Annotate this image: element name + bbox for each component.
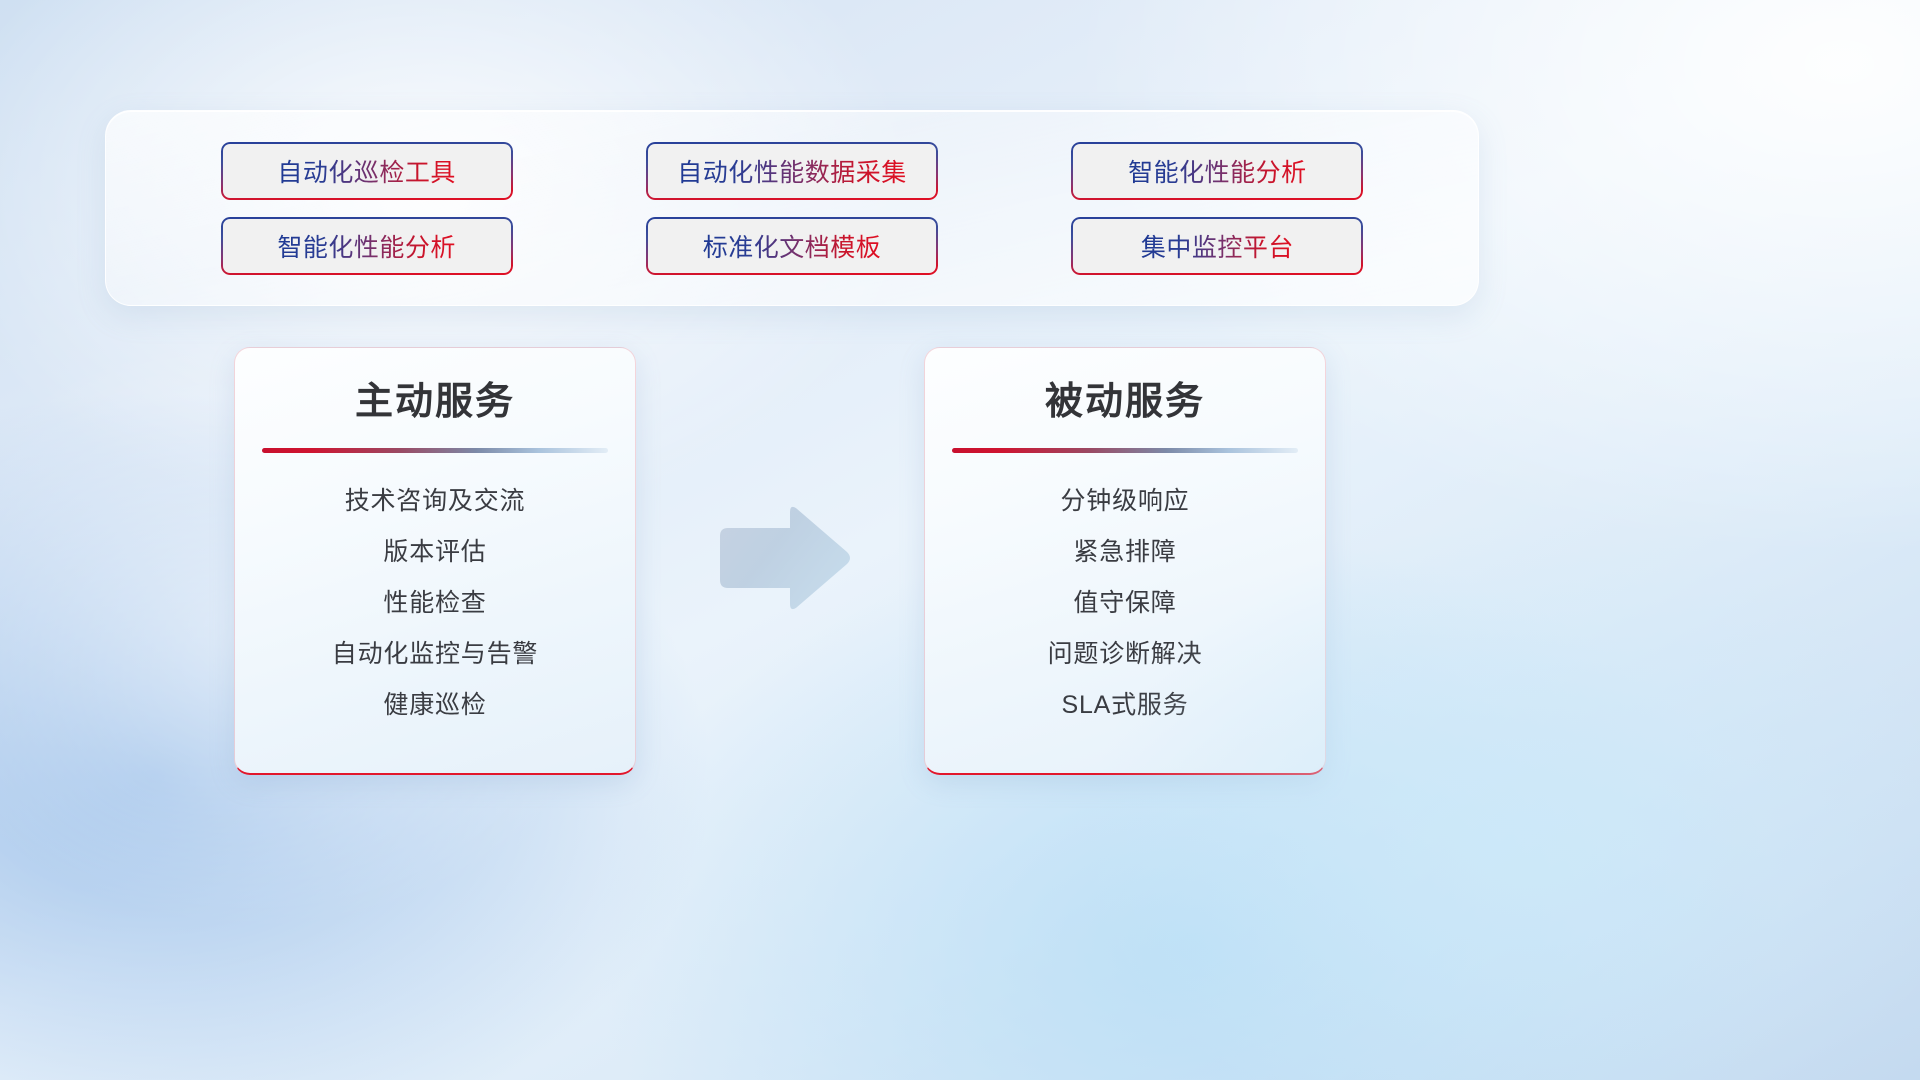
tool-pill-performance-data-collection[interactable]: 自动化性能数据采集 xyxy=(646,142,938,200)
tool-pill-label: 智能化性能分析 xyxy=(277,228,456,264)
list-item: SLA式服务 xyxy=(1061,693,1188,718)
card-title: 主动服务 xyxy=(355,382,515,424)
list-item: 自动化监控与告警 xyxy=(332,642,538,667)
tool-pill-intelligent-performance-analysis[interactable]: 智能化性能分析 xyxy=(1071,142,1363,200)
card-title: 被动服务 xyxy=(1045,382,1205,424)
tool-pill-label: 智能化性能分析 xyxy=(1128,153,1307,189)
service-card-reactive: 被动服务 分钟级响应 紧急排障 值守保障 问题诊断解决 SLA式服务 xyxy=(924,347,1326,775)
tool-pill-intelligent-performance-analysis-2[interactable]: 智能化性能分析 xyxy=(221,217,513,275)
list-item: 紧急排障 xyxy=(1073,540,1176,565)
arrow-right-icon xyxy=(714,500,854,616)
tool-pill-label: 集中监控平台 xyxy=(1141,228,1294,264)
card-item-list: 技术咨询及交流 版本评估 性能检查 自动化监控与告警 健康巡检 xyxy=(257,489,613,718)
card-divider xyxy=(262,448,608,453)
slide-canvas: 自动化巡检工具 自动化性能数据采集 智能化性能分析 智能化性能分析 标准化文档模… xyxy=(0,0,1920,1080)
service-card-proactive: 主动服务 技术咨询及交流 版本评估 性能检查 自动化监控与告警 健康巡检 xyxy=(234,347,636,775)
tool-pill-automation-inspection[interactable]: 自动化巡检工具 xyxy=(221,142,513,200)
card-divider xyxy=(952,448,1298,453)
list-item: 技术咨询及交流 xyxy=(345,489,526,514)
tools-panel: 自动化巡检工具 自动化性能数据采集 智能化性能分析 智能化性能分析 标准化文档模… xyxy=(105,110,1479,306)
list-item: 版本评估 xyxy=(383,540,486,565)
list-item: 健康巡检 xyxy=(383,693,486,718)
tool-pill-centralized-monitoring-platform[interactable]: 集中监控平台 xyxy=(1071,217,1363,275)
card-item-list: 分钟级响应 紧急排障 值守保障 问题诊断解决 SLA式服务 xyxy=(947,489,1303,718)
tool-pill-standard-doc-template[interactable]: 标准化文档模板 xyxy=(646,217,938,275)
tool-pill-label: 自动化巡检工具 xyxy=(277,153,456,189)
list-item: 问题诊断解决 xyxy=(1048,642,1203,667)
list-item: 值守保障 xyxy=(1073,591,1176,616)
tool-pill-label: 标准化文档模板 xyxy=(703,228,882,264)
tool-pill-label: 自动化性能数据采集 xyxy=(677,153,907,189)
list-item: 性能检查 xyxy=(383,591,486,616)
list-item: 分钟级响应 xyxy=(1060,489,1189,514)
